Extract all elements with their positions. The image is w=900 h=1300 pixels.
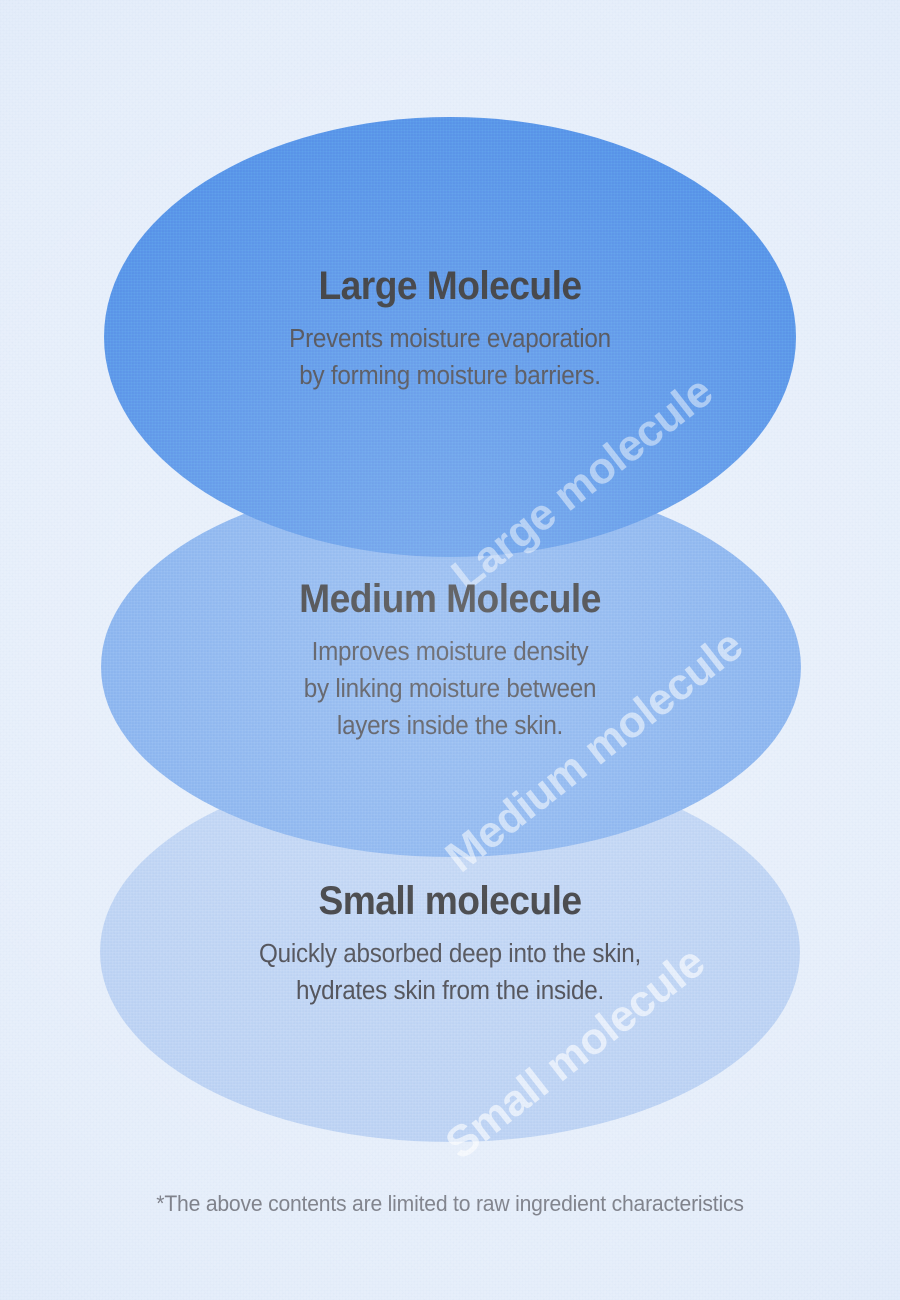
footnote-disclaimer: *The above contents are limited to raw i… (18, 1191, 882, 1217)
small-molecule-card: Small molecule Quickly absorbed deep int… (0, 880, 900, 1010)
medium-molecule-description-line-1: Improves moisture density (312, 638, 589, 666)
molecule-infographic-poster: Small molecule Medium molecule Large mol… (0, 0, 900, 1300)
small-molecule-description-line-1: Quickly absorbed deep into the skin, (259, 940, 641, 968)
large-molecule-description-line-1: Prevents moisture evaporation (289, 325, 611, 353)
medium-molecule-card: Medium Molecule Improves moisture densit… (0, 578, 900, 745)
large-molecule-description: Prevents moisture evaporation by forming… (23, 321, 878, 395)
large-molecule-title: Large Molecule (32, 265, 869, 307)
medium-molecule-description: Improves moisture density by linking moi… (23, 634, 878, 745)
medium-molecule-description-line-2: by linking moisture between (304, 675, 597, 703)
medium-molecule-title: Medium Molecule (32, 578, 869, 620)
large-molecule-card: Large Molecule Prevents moisture evapora… (0, 265, 900, 395)
small-molecule-description: Quickly absorbed deep into the skin, hyd… (23, 936, 878, 1010)
small-molecule-title: Small molecule (32, 880, 869, 922)
small-molecule-description-line-2: hydrates skin from the inside. (296, 977, 604, 1005)
large-molecule-description-line-2: by forming moisture barriers. (299, 362, 600, 390)
medium-molecule-description-line-3: layers inside the skin. (337, 712, 563, 740)
